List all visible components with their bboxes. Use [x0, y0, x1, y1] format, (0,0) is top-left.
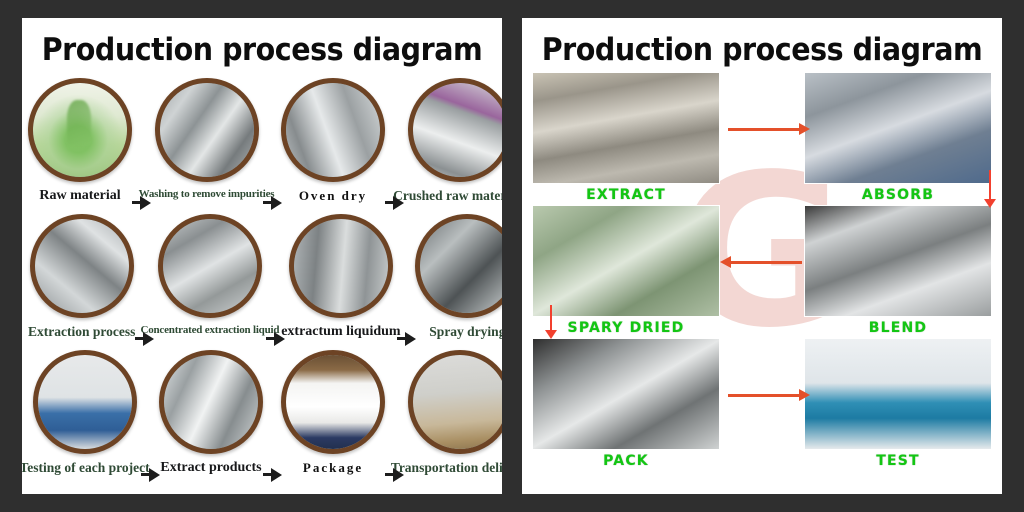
extract-products-photo [164, 355, 258, 449]
step-photo-frame [158, 214, 262, 318]
process-step[interactable]: Extract products [159, 350, 263, 476]
step-label: TEST [804, 453, 992, 469]
step-photo-frame [408, 78, 503, 182]
process-step[interactable]: extractum liquidum [284, 214, 397, 340]
process-step[interactable]: Concentrated extraction liquid [153, 214, 266, 337]
quality-test-lab-photo [804, 338, 992, 450]
absorption-column-photo [804, 72, 992, 184]
step-label: Washing to remove impurities [139, 189, 275, 201]
process-step[interactable]: PACK [532, 338, 720, 469]
extraction-plant-photo [35, 219, 129, 313]
step-label: BLEND [804, 320, 992, 336]
step-label: PACK [532, 453, 720, 469]
process-row-3: Testing of each project Extract products… [28, 350, 496, 482]
step-label: SPARY DRIED [532, 320, 720, 336]
arrow-right-icon [397, 332, 415, 346]
raw-material-photo [33, 83, 127, 177]
step-photo-frame [408, 350, 503, 454]
step-photo-frame [281, 350, 385, 454]
packing-operator-photo [532, 338, 720, 450]
process-row-2: Extraction process Concentrated extracti… [28, 214, 496, 346]
step-photo-frame [155, 78, 259, 182]
step-label: Extraction process [28, 325, 135, 339]
right-process-panel: Production process diagram G EXTRACT ABS… [522, 18, 1002, 494]
process-step[interactable]: SPARY DRIED [532, 205, 720, 336]
step-photo-frame [28, 78, 132, 182]
oven-dry-equipment-photo [286, 83, 380, 177]
step-photo-frame [281, 78, 385, 182]
arrow-down-icon [989, 170, 991, 200]
process-step[interactable]: EXTRACT [532, 72, 720, 203]
arrow-right-icon [728, 394, 800, 397]
spray-dryer-photo [420, 219, 502, 313]
step-photo-frame [33, 350, 137, 454]
arrow-right-icon [263, 196, 281, 210]
process-step[interactable]: Extraction process [28, 214, 135, 339]
extraction-tanks-photo [532, 72, 720, 184]
process-step[interactable]: Spray drying [415, 214, 502, 339]
process-step[interactable]: Testing of each project [28, 350, 141, 475]
palletized-cargo-photo [413, 355, 503, 449]
step-label: Crushed raw materials [393, 189, 502, 203]
left-steps-container: Raw material Washing to remove impuritie… [22, 68, 502, 482]
arrow-right-icon [135, 332, 153, 346]
laboratory-bench-photo [38, 355, 132, 449]
step-label: Concentrated extraction liquid [140, 325, 279, 337]
process-step[interactable]: Package [281, 350, 385, 475]
step-label: Oven dry [299, 189, 367, 203]
process-step[interactable]: TEST [804, 338, 992, 469]
step-label: ABSORB [804, 187, 992, 203]
step-label: Spray drying [429, 325, 502, 339]
right-steps-grid: G EXTRACT ABSORB SPARY DRIED [522, 68, 1002, 469]
step-label: Package [303, 461, 363, 475]
concentration-tanks-photo [163, 219, 257, 313]
arrow-right-icon [132, 196, 150, 210]
process-row-1: Raw material Washing to remove impuritie… [28, 78, 496, 210]
step-photo-frame [159, 350, 263, 454]
crushing-line-photo [413, 83, 503, 177]
washing-equipment-photo [160, 83, 254, 177]
left-panel-title: Production process diagram [41, 18, 483, 68]
process-step[interactable]: Transportation delivery [403, 350, 502, 475]
step-label: Extract products [160, 461, 261, 476]
packaging-bags-photo [286, 355, 380, 449]
arrow-right-icon [141, 468, 159, 482]
step-label: Transportation delivery [391, 461, 502, 475]
step-label: extractum liquidum [281, 325, 400, 340]
arrow-right-icon [266, 332, 284, 346]
process-step[interactable]: ABSORB [804, 72, 992, 203]
blending-mixer-photo [804, 205, 992, 317]
step-label: Raw material [39, 189, 120, 204]
evaporator-photo [294, 219, 388, 313]
step-label: Testing of each project [22, 461, 150, 475]
spray-drying-tower-photo [532, 205, 720, 317]
step-label: EXTRACT [532, 187, 720, 203]
arrow-right-icon [263, 468, 281, 482]
step-photo-frame [415, 214, 502, 318]
arrow-right-icon [728, 128, 800, 131]
step-photo-frame [30, 214, 134, 318]
arrow-right-icon [385, 196, 403, 210]
panel-divider [502, 0, 522, 512]
process-step[interactable]: BLEND [804, 205, 992, 336]
process-step[interactable]: Crushed raw materials [403, 78, 502, 203]
arrow-right-icon [385, 468, 403, 482]
arrow-left-icon [730, 261, 802, 264]
step-photo-frame [289, 214, 393, 318]
process-step[interactable]: Raw material [28, 78, 132, 204]
right-panel-title: Production process diagram [541, 18, 983, 68]
process-step[interactable]: Washing to remove impurities [150, 78, 263, 201]
process-step[interactable]: Oven dry [281, 78, 385, 203]
left-process-panel: Production process diagram Raw material … [22, 18, 502, 494]
screenshot-root: Production process diagram Raw material … [0, 0, 1024, 512]
arrow-down-icon [550, 305, 552, 331]
